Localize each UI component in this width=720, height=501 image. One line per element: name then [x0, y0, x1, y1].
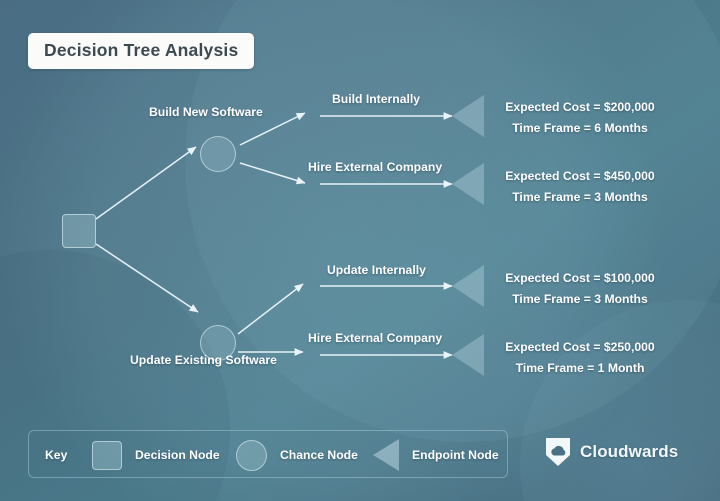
legend-panel: Key Decision Node Chance Node Endpoint N… — [28, 430, 508, 478]
endpoint-node-3[interactable] — [452, 265, 484, 307]
outcome-3: Expected Cost = $100,000 Time Frame = 3 … — [498, 268, 662, 310]
connector-build-to-external — [240, 163, 305, 183]
chance-node-icon — [236, 440, 267, 471]
legend-key-label: Key — [45, 448, 67, 462]
outcome-2-time: Time Frame = 3 Months — [498, 187, 662, 208]
legend-label-endpoint-node: Endpoint Node — [412, 448, 499, 462]
brand-name: Cloudwards — [580, 442, 678, 462]
legend-item-decision-node: Decision Node — [92, 431, 220, 479]
decision-node-root[interactable] — [62, 214, 96, 248]
outcome-3-time: Time Frame = 3 Months — [498, 289, 662, 310]
branch-label-hire-external-company-build: Hire External Company — [308, 160, 442, 174]
cloud-shield-logo-icon — [545, 437, 571, 467]
page-title: Decision Tree Analysis — [28, 33, 254, 69]
chance-node-build[interactable] — [200, 136, 236, 172]
legend-item-endpoint-node: Endpoint Node — [373, 431, 499, 479]
outcome-4: Expected Cost = $250,000 Time Frame = 1 … — [498, 337, 662, 379]
endpoint-node-1[interactable] — [452, 95, 484, 137]
outcome-1: Expected Cost = $200,000 Time Frame = 6 … — [498, 97, 662, 139]
endpoint-node-4[interactable] — [452, 334, 484, 376]
diagram-canvas: Decision Tree Analysis Build New Softwar… — [0, 0, 720, 501]
connector-root-to-build — [96, 147, 196, 219]
endpoint-node-icon — [373, 439, 399, 471]
outcome-3-cost: Expected Cost = $100,000 — [498, 268, 662, 289]
endpoint-node-2[interactable] — [452, 163, 484, 205]
brand-logo[interactable]: Cloudwards — [545, 437, 678, 467]
outcome-2: Expected Cost = $450,000 Time Frame = 3 … — [498, 166, 662, 208]
branch-label-build-internally: Build Internally — [332, 92, 420, 106]
connector-layer — [0, 0, 720, 501]
legend-label-chance-node: Chance Node — [280, 448, 358, 462]
branch-label-hire-external-company-update: Hire External Company — [308, 331, 442, 345]
legend-item-chance-node: Chance Node — [236, 431, 358, 479]
branch-label-build-new-software: Build New Software — [149, 105, 263, 119]
outcome-4-cost: Expected Cost = $250,000 — [498, 337, 662, 358]
page-title-text: Decision Tree Analysis — [44, 40, 238, 61]
connector-update-to-internal — [238, 284, 303, 334]
branch-label-update-internally: Update Internally — [327, 263, 426, 277]
legend-label-decision-node: Decision Node — [135, 448, 220, 462]
branch-label-update-existing-software: Update Existing Software — [130, 353, 277, 367]
legend-key-label-wrap: Key — [45, 431, 67, 479]
decision-node-icon — [92, 441, 122, 470]
outcome-4-time: Time Frame = 1 Month — [498, 358, 662, 379]
outcome-2-cost: Expected Cost = $450,000 — [498, 166, 662, 187]
outcome-1-time: Time Frame = 6 Months — [498, 118, 662, 139]
outcome-1-cost: Expected Cost = $200,000 — [498, 97, 662, 118]
connector-root-to-update — [96, 244, 198, 312]
